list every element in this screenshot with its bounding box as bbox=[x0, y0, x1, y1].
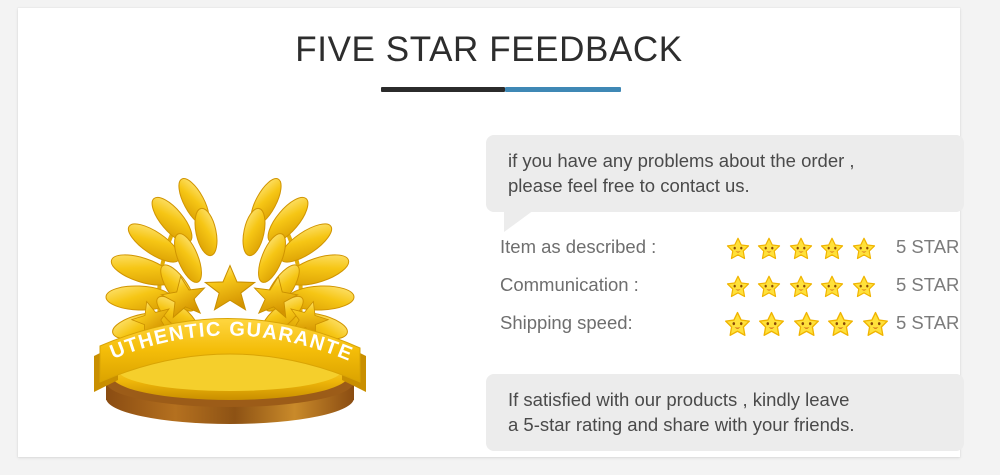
satisfaction-message-line-2: a 5-star rating and share with your frie… bbox=[508, 412, 948, 437]
star-icon bbox=[820, 274, 844, 298]
underline-dark-segment bbox=[381, 87, 505, 92]
page-title: FIVE STAR FEEDBACK bbox=[18, 30, 960, 70]
star-icon bbox=[757, 274, 781, 298]
authentic-guarantee-emblem: AUTHENTIC GUARANTEE bbox=[60, 130, 400, 430]
satisfaction-message-line-1: If satisfied with our products , kindly … bbox=[508, 387, 948, 412]
bubble-tail bbox=[504, 210, 534, 232]
rating-value: 5 STAR bbox=[896, 233, 959, 261]
star-icon bbox=[726, 274, 750, 298]
star-icon bbox=[852, 236, 876, 260]
star-icon bbox=[758, 310, 785, 337]
star-icon bbox=[757, 236, 781, 260]
star-icon bbox=[852, 274, 876, 298]
rating-value: 5 STAR bbox=[896, 309, 959, 337]
satisfaction-message-bubble: If satisfied with our products , kindly … bbox=[486, 374, 964, 451]
help-message-bubble: if you have any problems about the order… bbox=[486, 135, 964, 212]
underline-blue-segment bbox=[505, 87, 621, 92]
star-icon bbox=[789, 236, 813, 260]
rating-list: Item as described : 5 STAR Communication… bbox=[486, 233, 964, 347]
feedback-banner: FIVE STAR FEEDBACK bbox=[0, 0, 1000, 475]
rating-value: 5 STAR bbox=[896, 271, 959, 299]
rating-row: Shipping speed: 5 STAR bbox=[486, 309, 964, 347]
rating-label: Communication : bbox=[500, 271, 639, 299]
content-card: FIVE STAR FEEDBACK bbox=[18, 8, 960, 457]
star-icon bbox=[726, 236, 750, 260]
help-message-line-1: if you have any problems about the order… bbox=[508, 148, 948, 173]
title-underline bbox=[381, 87, 621, 92]
help-message-line-2: please feel free to contact us. bbox=[508, 173, 948, 198]
star-icon bbox=[724, 310, 751, 337]
rating-label: Shipping speed: bbox=[500, 309, 633, 337]
star-icon bbox=[793, 310, 820, 337]
rating-stars bbox=[726, 236, 879, 260]
rating-stars bbox=[726, 274, 879, 298]
feedback-panel: if you have any problems about the order… bbox=[478, 128, 958, 438]
star-icon bbox=[827, 310, 854, 337]
star-icon bbox=[789, 274, 813, 298]
rating-row: Communication : 5 STAR bbox=[486, 271, 964, 309]
star-icon bbox=[820, 236, 844, 260]
rating-stars bbox=[724, 310, 892, 337]
rating-label: Item as described : bbox=[500, 233, 656, 261]
star-icon bbox=[862, 310, 889, 337]
rating-row: Item as described : 5 STAR bbox=[486, 233, 964, 271]
